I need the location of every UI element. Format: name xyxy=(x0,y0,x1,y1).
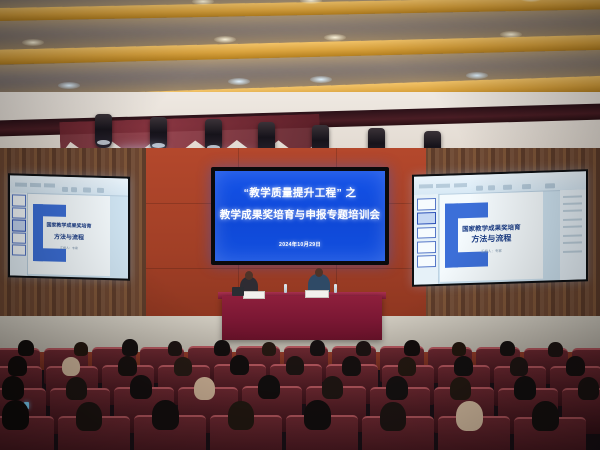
audience-head xyxy=(174,357,192,376)
speaker-head xyxy=(315,268,323,277)
audience-head xyxy=(152,400,179,430)
slide-thumbnail-selected[interactable] xyxy=(12,220,26,232)
ribbon-icon xyxy=(503,184,512,190)
notes-line xyxy=(563,235,582,238)
slide-canvas: 国家教学成果奖培育 方法与流程 汇报人：专家 xyxy=(28,194,111,276)
audience-head xyxy=(380,402,406,431)
audience-head xyxy=(8,356,27,376)
audience-head xyxy=(2,376,24,400)
slide-thumbnail[interactable] xyxy=(417,255,436,267)
audience-head xyxy=(18,340,34,356)
stage-light xyxy=(150,117,167,151)
audience-head xyxy=(230,355,249,375)
slide-thumbnail-panel[interactable] xyxy=(414,194,439,284)
slide-title-line2: 方法与流程 xyxy=(440,232,543,246)
audience-head xyxy=(304,400,331,430)
audience-head xyxy=(122,339,138,356)
audience-head xyxy=(450,377,471,400)
slide-thumbnail[interactable] xyxy=(12,232,26,244)
audience-head xyxy=(514,376,536,400)
audience-seating xyxy=(0,330,600,450)
panel-seam xyxy=(146,268,426,269)
ribbon-icon xyxy=(71,187,77,192)
downlight xyxy=(58,82,80,89)
notes-line xyxy=(563,218,582,221)
downlight xyxy=(22,39,44,46)
audience-head xyxy=(130,375,152,399)
water-bottle xyxy=(334,284,337,293)
name-plate xyxy=(305,290,329,298)
audience-head xyxy=(62,357,80,376)
ribbon-icon xyxy=(545,183,555,189)
ribbon-tab xyxy=(419,184,433,189)
led-screen-surface: “教学质量提升工程” 之 教学成果奖培育与申报专题培训会 2024年10月29日 xyxy=(215,171,385,261)
downlight xyxy=(500,31,522,38)
ribbon-icon xyxy=(97,188,104,193)
slide-thumbnail[interactable] xyxy=(12,207,26,219)
slide-thumbnail[interactable] xyxy=(417,227,436,239)
downlight xyxy=(466,72,488,79)
ribbon-icon xyxy=(522,184,531,190)
ribbon-tab xyxy=(30,183,41,187)
audience-head xyxy=(262,342,276,356)
ribbon-icon xyxy=(488,185,495,191)
ribbon-tab xyxy=(454,183,468,188)
slide-thumbnail-selected[interactable] xyxy=(417,212,436,224)
slide-thumbnail[interactable] xyxy=(12,195,26,207)
speaker-head xyxy=(245,271,253,280)
audience-head xyxy=(386,376,408,400)
audience-head xyxy=(548,342,563,357)
slide-canvas: 国家教学成果奖培育 方法与流程 汇报人：专家 xyxy=(440,192,543,282)
auditorium-photo: “教学质量提升工程” 之 教学成果奖培育与申报专题培训会 2024年10月29日 xyxy=(0,0,600,450)
audience-head xyxy=(118,356,137,376)
laptop xyxy=(232,287,244,296)
ribbon-tab xyxy=(436,183,450,188)
audience-head xyxy=(452,342,466,356)
downlight xyxy=(228,78,250,85)
slide-thumbnail-panel[interactable] xyxy=(10,192,28,275)
audience-head xyxy=(500,341,515,356)
audience-head xyxy=(168,341,182,356)
downlight xyxy=(324,34,346,41)
audience-head xyxy=(532,401,559,431)
projection-screen-right: 国家教学成果奖培育 方法与流程 汇报人：专家 xyxy=(412,169,588,287)
slide-thumbnail[interactable] xyxy=(417,241,436,253)
main-led-screen: “教学质量提升工程” 之 教学成果奖培育与申报专题培训会 2024年10月29日 xyxy=(211,167,389,265)
notes-panel xyxy=(560,190,586,280)
audience-head xyxy=(258,375,280,399)
audience-head xyxy=(286,356,304,375)
notes-line xyxy=(563,251,582,254)
audience-head xyxy=(398,357,416,376)
notes-line xyxy=(563,202,582,205)
powerpoint-window-left: 国家教学成果奖培育 方法与流程 汇报人：专家 xyxy=(10,175,128,278)
downlight xyxy=(310,76,332,83)
notes-line xyxy=(563,209,582,212)
led-title-line2: 教学成果奖培育与申报专题培训会 xyxy=(220,207,381,222)
notes-line xyxy=(563,226,582,229)
audience-head xyxy=(310,340,325,356)
slide-shape xyxy=(33,248,66,262)
name-plate xyxy=(243,291,265,299)
downlight xyxy=(214,36,236,43)
audience-head xyxy=(66,377,87,400)
audience-head xyxy=(194,377,215,400)
led-date: 2024年10月29日 xyxy=(279,241,321,248)
audience-head xyxy=(404,340,420,356)
ribbon-tab xyxy=(15,182,27,186)
audience-head xyxy=(566,356,585,376)
water-bottle xyxy=(284,284,287,293)
audience-head xyxy=(74,342,88,356)
audience-head xyxy=(228,401,254,430)
slide-thumbnail[interactable] xyxy=(417,198,436,210)
audience-head xyxy=(342,356,361,376)
notes-line xyxy=(563,195,582,198)
slide-thumbnail[interactable] xyxy=(12,245,26,257)
ribbon-icon xyxy=(476,185,483,191)
notes-line xyxy=(563,242,582,245)
audience-head xyxy=(2,400,29,430)
audience-head xyxy=(214,340,230,356)
audience-head xyxy=(322,376,343,399)
audience-head xyxy=(510,357,528,376)
audience-head xyxy=(578,377,599,400)
ceiling xyxy=(0,0,600,96)
ribbon-icon xyxy=(83,187,91,192)
led-title-line1: “教学质量提升工程” 之 xyxy=(244,185,357,200)
audience-head xyxy=(76,402,102,431)
audience-head xyxy=(454,356,473,376)
audience-head xyxy=(356,341,371,356)
ribbon-tab xyxy=(44,183,55,187)
stage-light xyxy=(95,114,112,148)
powerpoint-window-right: 国家教学成果奖培育 方法与流程 汇报人：专家 xyxy=(414,171,586,284)
ribbon-icon xyxy=(62,187,68,192)
projection-screen-left: 国家教学成果奖培育 方法与流程 汇报人：专家 xyxy=(8,173,130,280)
audience-head xyxy=(456,401,483,431)
